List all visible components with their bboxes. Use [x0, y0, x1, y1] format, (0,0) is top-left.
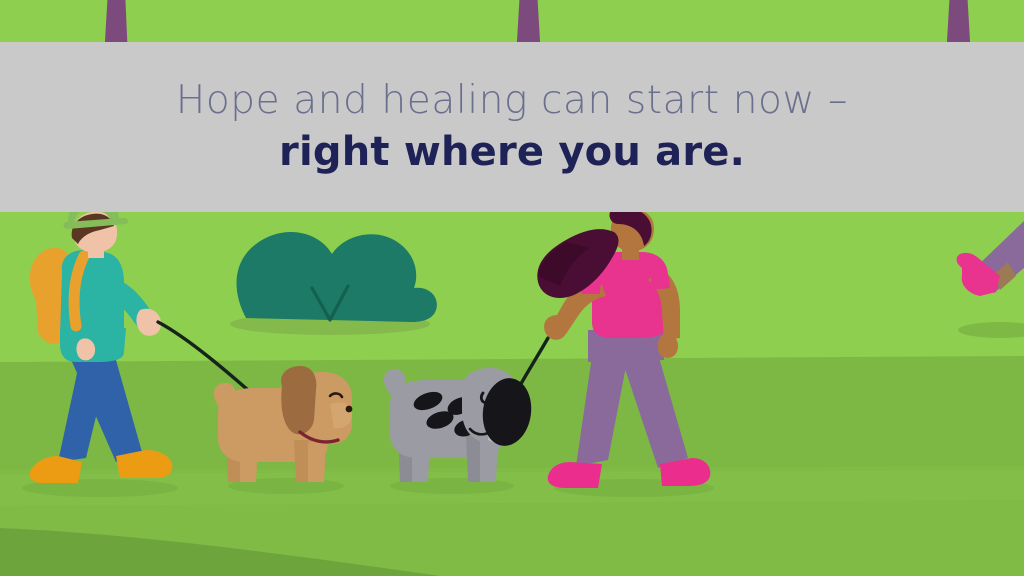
grass-band-upper [0, 212, 1024, 364]
caption-line-2: right where you are. [279, 129, 745, 175]
tan-dog-ear [281, 366, 316, 434]
caption-line-1: Hope and healing can start now – [176, 79, 848, 124]
woman-back-shoe [548, 462, 602, 488]
tan-dog-nose [346, 406, 353, 413]
caption-banner: Hope and healing can start now – right w… [0, 42, 1024, 212]
illustration-scene: Hope and healing can start now – right w… [0, 0, 1024, 576]
woman-right-hand [658, 334, 678, 358]
tan-dog-front-leg-2 [308, 442, 326, 482]
